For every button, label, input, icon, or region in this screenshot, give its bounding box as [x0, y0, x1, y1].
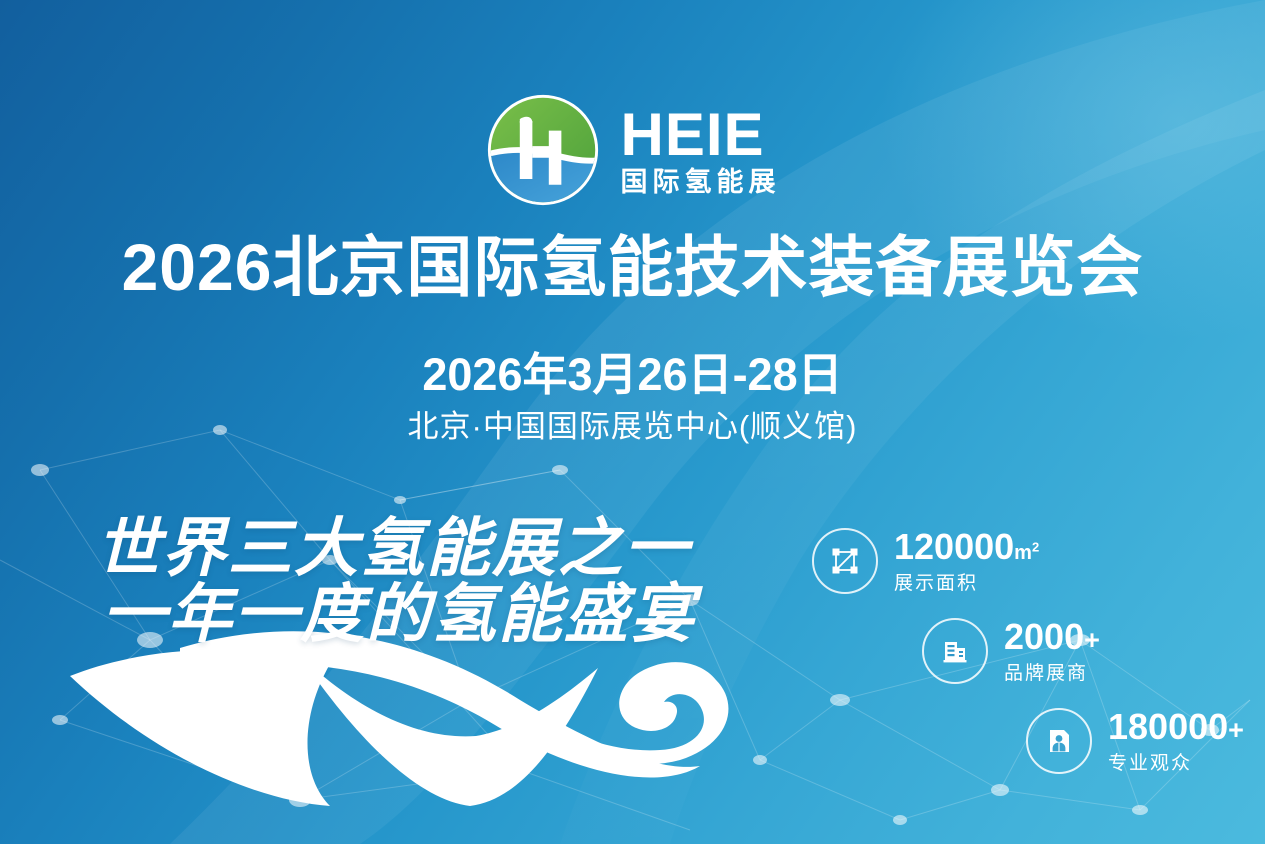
- slogan-line-2: 一年一度的氢能盛宴: [102, 582, 696, 648]
- logo-text-block: HEIE 国际氢能展: [621, 102, 781, 198]
- stat-label: 专业观众: [1108, 754, 1244, 773]
- stat-value: 120000m2: [894, 529, 1039, 565]
- stat-number: 180000: [1108, 706, 1228, 747]
- slogan-line-1: 世界三大氢能展之一: [96, 512, 690, 584]
- stat-icon-wrapper: [922, 618, 988, 684]
- event-date: 2026年3月26日-28日: [0, 350, 1265, 400]
- stat-label: 品牌展商: [1004, 664, 1100, 683]
- stat-professional-visitors: 180000+ 专业观众: [1026, 708, 1244, 774]
- brand-wordmark: HEIE: [621, 106, 765, 164]
- stat-label: 展示面积: [894, 574, 1039, 593]
- stat-icon-wrapper: [812, 528, 878, 594]
- area-frame-icon: [829, 545, 861, 577]
- stat-value: 180000+: [1108, 709, 1244, 745]
- stat-unit-exponent: 2: [1032, 539, 1039, 554]
- brand-chinese-name: 国际氢能展: [621, 167, 781, 198]
- event-promo-banner: HEIE 国际氢能展 2026北京国际氢能技术装备展览会 2026年3月26日-…: [0, 0, 1265, 844]
- stat-icon-wrapper: [1026, 708, 1092, 774]
- stat-text: 2000+ 品牌展商: [1004, 619, 1100, 683]
- stat-value: 2000+: [1004, 619, 1100, 655]
- stat-brand-exhibitors: 2000+ 品牌展商: [922, 618, 1100, 684]
- stat-text: 120000m2 展示面积: [894, 529, 1039, 593]
- stat-text: 180000+ 专业观众: [1108, 709, 1244, 773]
- heie-circle-logo-icon: [485, 92, 601, 208]
- page-title: 2026北京国际氢能技术装备展览会: [0, 232, 1265, 303]
- visitor-badge-icon: [1043, 725, 1075, 757]
- stat-exhibition-area: 120000m2 展示面积: [812, 528, 1039, 594]
- stat-suffix: +: [1084, 625, 1100, 655]
- stat-unit-text: m: [1014, 542, 1032, 564]
- stat-suffix: +: [1228, 715, 1244, 745]
- white-ribbon-swoosh: [70, 631, 728, 806]
- building-icon: [939, 635, 971, 667]
- logo-lockup: HEIE 国际氢能展: [0, 92, 1265, 208]
- event-venue: 北京·中国国际展览中心(顺义馆): [0, 408, 1265, 445]
- stat-number: 2000: [1004, 616, 1084, 657]
- stat-unit: m2: [1014, 542, 1039, 564]
- stat-number: 120000: [894, 526, 1014, 567]
- slogan: 世界三大氢能展之一 一年一度的氢能盛宴: [96, 516, 696, 648]
